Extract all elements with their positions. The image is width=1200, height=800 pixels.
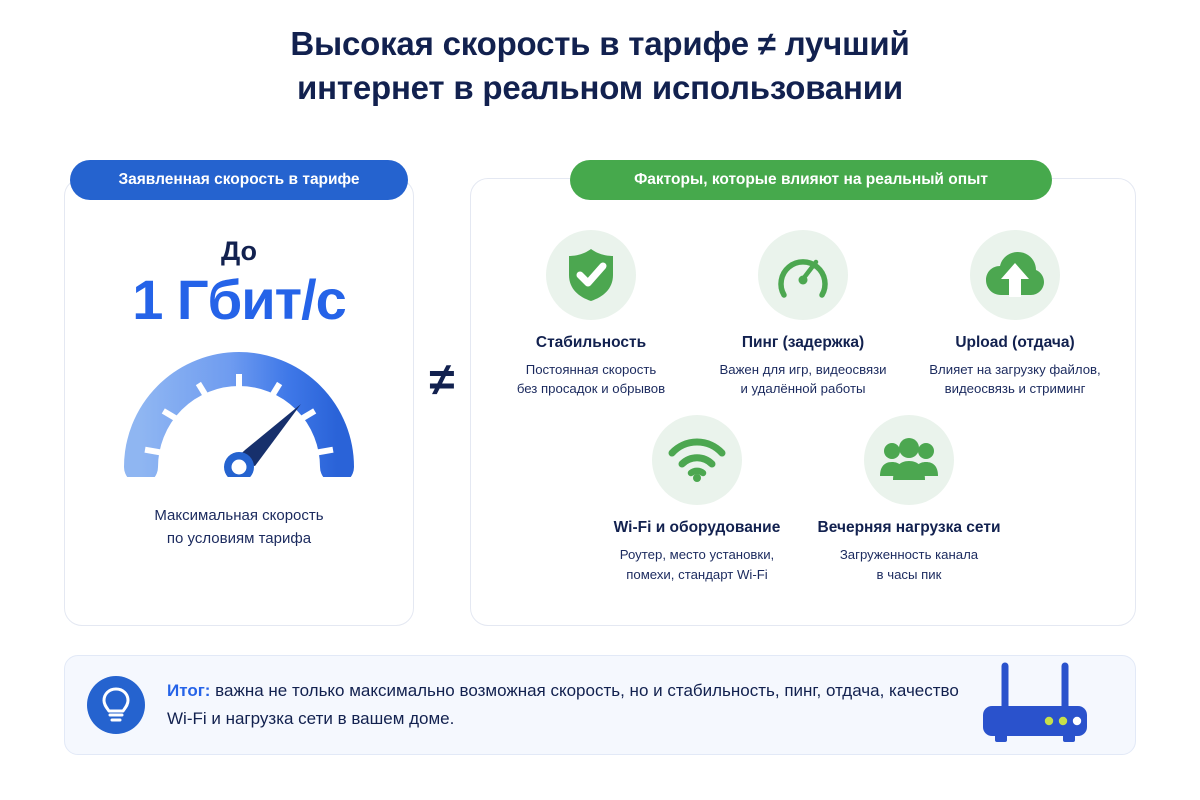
declared-speed-caption-line-2: по условиям тарифа (154, 527, 323, 550)
wifi-icon (652, 415, 742, 505)
factor-desc: Влияет на загрузку файлов, видеосвязь и … (929, 360, 1100, 400)
gauge-svg (119, 345, 359, 477)
page-title-line-2: интернет в реальном использовании (0, 66, 1200, 110)
router-led-1 (1045, 716, 1053, 724)
factor-desc: Постоянная скорость без просадок и обрыв… (517, 360, 665, 400)
lightbulb-glyph (101, 687, 131, 723)
factor-wifi: Wi-Fi и оборудование Роутер, место устан… (591, 415, 803, 584)
factor-title: Upload (отдача) (955, 334, 1074, 353)
gauge-hub-inner (232, 459, 247, 474)
shield-check-icon (546, 230, 636, 320)
cloud-upload-glyph (985, 251, 1045, 299)
factor-desc-line-1: Постоянная скорость (517, 360, 665, 380)
main-comparison-area: До 1 Гбит/с (0, 160, 1200, 630)
factor-desc-line-2: и удалённой работы (719, 379, 886, 399)
summary-body: важна не только максимально возможная ск… (167, 681, 959, 728)
factor-desc: Важен для игр, видеосвязи и удалённой ра… (719, 360, 886, 400)
speed-prefix-label: До (221, 236, 257, 267)
speedometer-glyph (774, 247, 832, 303)
factor-upload: Upload (отдача) Влияет на загрузку файло… (909, 230, 1121, 399)
declared-speed-caption: Максимальная скорость по условиям тарифа (154, 504, 323, 551)
cloud-upload-icon (970, 230, 1060, 320)
factor-desc-line-2: без просадок и обрывов (517, 379, 665, 399)
summary-text: Итог: важна не только максимально возмож… (167, 677, 967, 732)
people-group-icon (864, 415, 954, 505)
not-equal-symbol: ≠ (414, 356, 470, 402)
speed-value: 1 Гбит/с (132, 269, 346, 331)
factor-desc-line-2: видеосвязь и стриминг (929, 379, 1100, 399)
real-factors-pill-label: Факторы, которые влияют на реальный опыт (570, 160, 1052, 200)
factors-grid: Стабильность Постоянная скорость без про… (470, 178, 1136, 626)
factor-desc: Роутер, место установки, помехи, стандар… (620, 545, 774, 585)
factor-title: Вечерняя нагрузка сети (818, 519, 1001, 538)
page-title-line-1: Высокая скорость в тарифе ≠ лучший (0, 22, 1200, 66)
shield-check-glyph (565, 247, 617, 303)
factor-desc-line-2: в часы пик (840, 565, 978, 585)
factor-evening-load: Вечерняя нагрузка сети Загруженность кан… (803, 415, 1015, 584)
factor-desc-line-1: Роутер, место установки, (620, 545, 774, 565)
factor-desc-line-1: Влияет на загрузку файлов, (929, 360, 1100, 380)
declared-speed-content: До 1 Гбит/с (64, 178, 414, 626)
factor-ping: Пинг (задержка) Важен для игр, видеосвяз… (697, 230, 909, 399)
factor-desc-line-2: помехи, стандарт Wi-Fi (620, 565, 774, 585)
factor-title: Пинг (задержка) (742, 334, 864, 353)
factor-title: Стабильность (536, 334, 646, 353)
declared-speed-caption-line-1: Максимальная скорость (154, 504, 323, 527)
wifi-glyph (668, 437, 726, 483)
factor-desc: Загруженность канала в часы пик (840, 545, 978, 585)
declared-speed-pill-label: Заявленная скорость в тарифе (70, 160, 408, 200)
router-icon (975, 660, 1095, 751)
factor-desc-line-1: Загруженность канала (840, 545, 978, 565)
factors-row-top: Стабильность Постоянная скорость без про… (484, 230, 1122, 399)
summary-bar: Итог: важна не только максимально возмож… (64, 655, 1136, 755)
people-group-glyph (880, 438, 938, 482)
speed-gauge (119, 345, 359, 482)
speedometer-icon (758, 230, 848, 320)
router-led-3 (1073, 716, 1081, 724)
page-title: Высокая скорость в тарифе ≠ лучший интер… (0, 0, 1200, 109)
lightbulb-icon (87, 676, 145, 734)
router-led-2 (1059, 716, 1067, 724)
factors-row-bottom: Wi-Fi и оборудование Роутер, место устан… (484, 415, 1122, 584)
factor-stability: Стабильность Постоянная скорость без про… (485, 230, 697, 399)
router-glyph (975, 660, 1095, 746)
summary-lead: Итог: (167, 681, 210, 700)
factor-title: Wi-Fi и оборудование (614, 519, 781, 538)
factor-desc-line-1: Важен для игр, видеосвязи (719, 360, 886, 380)
